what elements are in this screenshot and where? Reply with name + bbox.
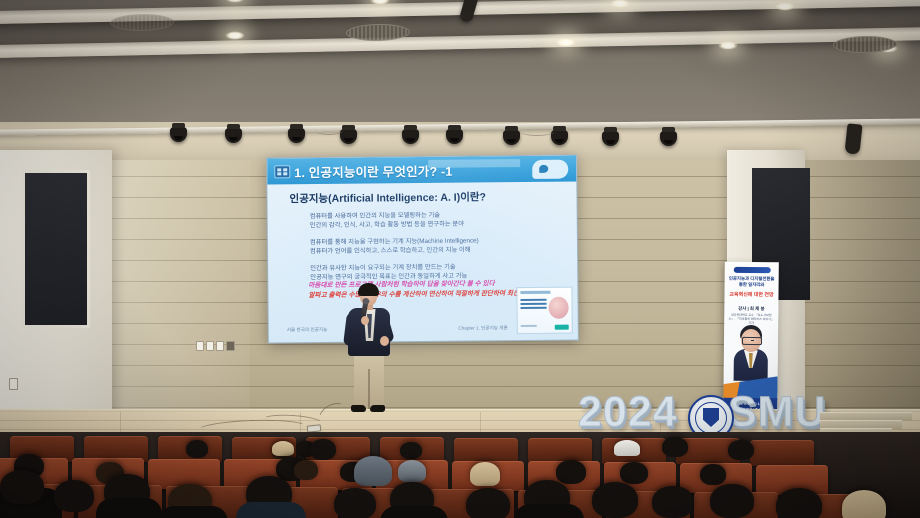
- audience-head: [272, 441, 294, 456]
- audience-head: [652, 486, 694, 518]
- audience-head: [354, 456, 392, 486]
- audience-head: [310, 439, 336, 460]
- banner-highlight: 교육혁신에 대한 전망: [728, 292, 774, 299]
- audience-head: [556, 460, 586, 484]
- slide-footer-left: 서울 한국의 인공지능: [287, 327, 328, 333]
- ceiling-downlight: [225, 31, 245, 40]
- ceiling-downlight: [225, 0, 245, 3]
- audience-body: [236, 502, 306, 518]
- slide-body: 컴퓨터를 사용하여 인간의 지능을 모델링하는 기술 인간의 감각, 인식, 사…: [310, 210, 561, 283]
- banner-pill-label: [734, 267, 771, 273]
- slide-badge: [428, 159, 520, 168]
- ceiling-downlight: [718, 41, 738, 50]
- glasses-icon: [742, 337, 762, 345]
- presenter-hand-left: [361, 316, 369, 325]
- audience-head: [662, 437, 688, 457]
- presenter-hand-right: [380, 336, 389, 346]
- light-cable: [315, 126, 343, 135]
- banner-speaker-name: 강사 | 최 재 붕: [728, 306, 774, 312]
- audience-head: [398, 460, 426, 482]
- projection-screen: 1. 인공지능이란 무엇인가? -1 인공지능(Artificial Intel…: [266, 155, 579, 344]
- ceiling-downlight: [775, 2, 795, 11]
- light-cable: [520, 127, 554, 136]
- audience-body: [514, 504, 584, 518]
- signage-year: 2024: [578, 388, 678, 437]
- audience-head: [294, 460, 318, 480]
- banner-headline: 인공지능과 디지털전환을 통한 일자리와: [729, 276, 775, 289]
- audience-body: [158, 506, 228, 518]
- audience-head: [592, 482, 638, 518]
- seat: [750, 440, 814, 466]
- auditorium-photo: 1. 인공지능이란 무엇인가? -1 인공지능(Artificial Intel…: [0, 0, 920, 518]
- audience-head: [0, 470, 44, 504]
- audience-head: [334, 488, 376, 518]
- stage-stairs: [820, 378, 912, 434]
- audience-head: [776, 488, 822, 518]
- slide-footer-right: Chapter 1. 인공지능 개론: [458, 325, 507, 331]
- slide-thumbnail-image: [516, 287, 572, 335]
- circle-blob-logo-icon: [532, 160, 568, 179]
- audience-head: [54, 480, 94, 512]
- wall-outlet: [216, 341, 224, 351]
- audience-head: [710, 484, 754, 518]
- slide-header-bar: 1. 인공지능이란 무엇인가? -1: [267, 156, 576, 185]
- audience-body: [380, 506, 448, 518]
- audience-head: [466, 488, 510, 518]
- banner-speaker-photo: [732, 325, 771, 381]
- wall-outlet: [9, 378, 18, 390]
- audience-head: [728, 440, 754, 460]
- ceiling: [0, 0, 920, 128]
- auditorium-seating: [0, 432, 920, 518]
- left-recessed-panel: [22, 170, 90, 328]
- presenter: [336, 283, 402, 415]
- grid-icon: [274, 165, 290, 178]
- wall-outlet: [196, 341, 204, 351]
- audience-head: [186, 440, 208, 458]
- wall-outlet: [226, 341, 235, 351]
- audience-body: [96, 498, 162, 518]
- audience-head: [470, 462, 500, 486]
- audience-head: [620, 462, 648, 484]
- audience-head: [842, 490, 886, 518]
- signage-smu: SMU: [728, 388, 827, 437]
- slide-heading: 인공지능(Artificial Intelligence: A. I)이란?: [289, 189, 486, 206]
- wall-outlet: [206, 341, 214, 351]
- audience-head: [400, 442, 422, 459]
- audience-head: [614, 440, 640, 456]
- slide-content: 1. 인공지능이란 무엇인가? -1 인공지능(Artificial Intel…: [267, 156, 578, 343]
- ceiling-downlight: [556, 38, 576, 47]
- audience-head: [700, 464, 726, 485]
